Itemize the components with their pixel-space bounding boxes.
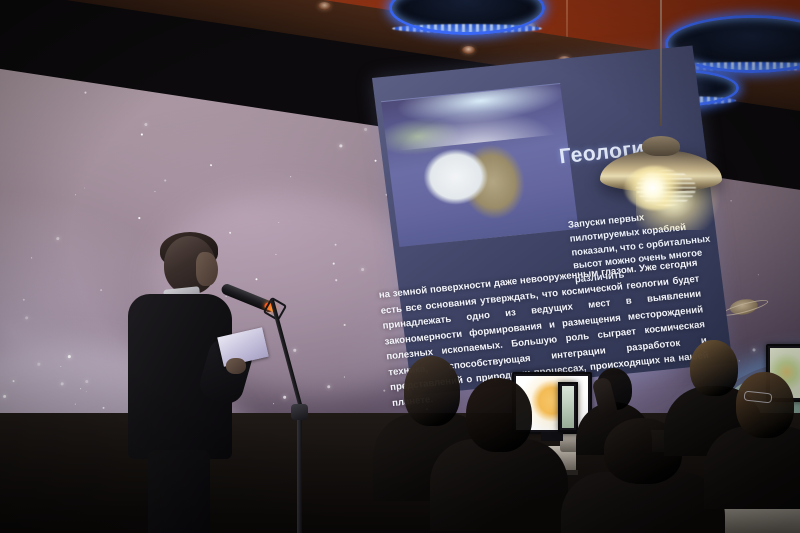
audience-shoulders (704, 426, 800, 509)
star (344, 376, 345, 377)
audience-head (736, 372, 794, 438)
star (758, 274, 759, 275)
star (164, 179, 166, 181)
star (229, 232, 232, 235)
star (84, 91, 86, 93)
monitor-center-stand (541, 432, 563, 441)
star (364, 128, 367, 131)
star (334, 244, 336, 246)
lamp-bulb (624, 166, 686, 210)
star (275, 254, 277, 256)
slide-earth-photo (381, 83, 579, 247)
audience-head (404, 356, 460, 426)
star (102, 407, 104, 409)
star (752, 348, 755, 351)
audience-shoulders (430, 439, 569, 532)
presenter-legs (148, 450, 210, 533)
star (344, 324, 346, 326)
ceiling-spot-5 (318, 2, 331, 10)
star (141, 133, 143, 135)
star (273, 403, 274, 404)
star (68, 355, 71, 358)
star (31, 257, 32, 258)
oval-led-light-1 (392, 0, 542, 32)
star (383, 389, 385, 391)
ceiling-spot-1 (462, 46, 475, 54)
star (60, 366, 61, 367)
planetarium-presentation-photo: Геология Запуски первых пилотируемых кор… (0, 0, 800, 533)
presenter-face (196, 252, 218, 286)
star (138, 217, 140, 219)
audience-head (690, 340, 738, 396)
star (730, 200, 732, 202)
star (12, 380, 15, 383)
star (361, 268, 364, 271)
star (23, 299, 25, 301)
presenter-hand (226, 358, 246, 374)
star (75, 194, 76, 195)
star (154, 191, 155, 192)
star (144, 123, 148, 127)
star (60, 382, 63, 385)
student-presenter (120, 236, 260, 533)
lamp-cord (660, 0, 662, 126)
microphone-stand-pole (297, 412, 302, 533)
lamp-cap (642, 136, 680, 156)
microphone-stand-joint (291, 404, 308, 420)
star (293, 349, 296, 352)
star (283, 396, 286, 399)
star (84, 187, 85, 188)
monitor-left-partial-screen (562, 386, 574, 428)
star (80, 388, 81, 389)
star (739, 360, 740, 361)
star (333, 262, 335, 264)
star (374, 160, 377, 163)
star (290, 176, 291, 177)
star (278, 222, 280, 224)
star (85, 380, 88, 383)
star (25, 316, 28, 319)
star (75, 404, 76, 405)
audience-head (466, 378, 532, 452)
star (56, 237, 59, 240)
star (339, 144, 342, 147)
star (37, 362, 40, 365)
monitor-left-partial[interactable] (558, 382, 578, 432)
star (3, 395, 6, 398)
star (86, 391, 87, 392)
star (327, 385, 330, 388)
star (335, 279, 337, 281)
star (210, 164, 212, 166)
star (100, 289, 102, 291)
